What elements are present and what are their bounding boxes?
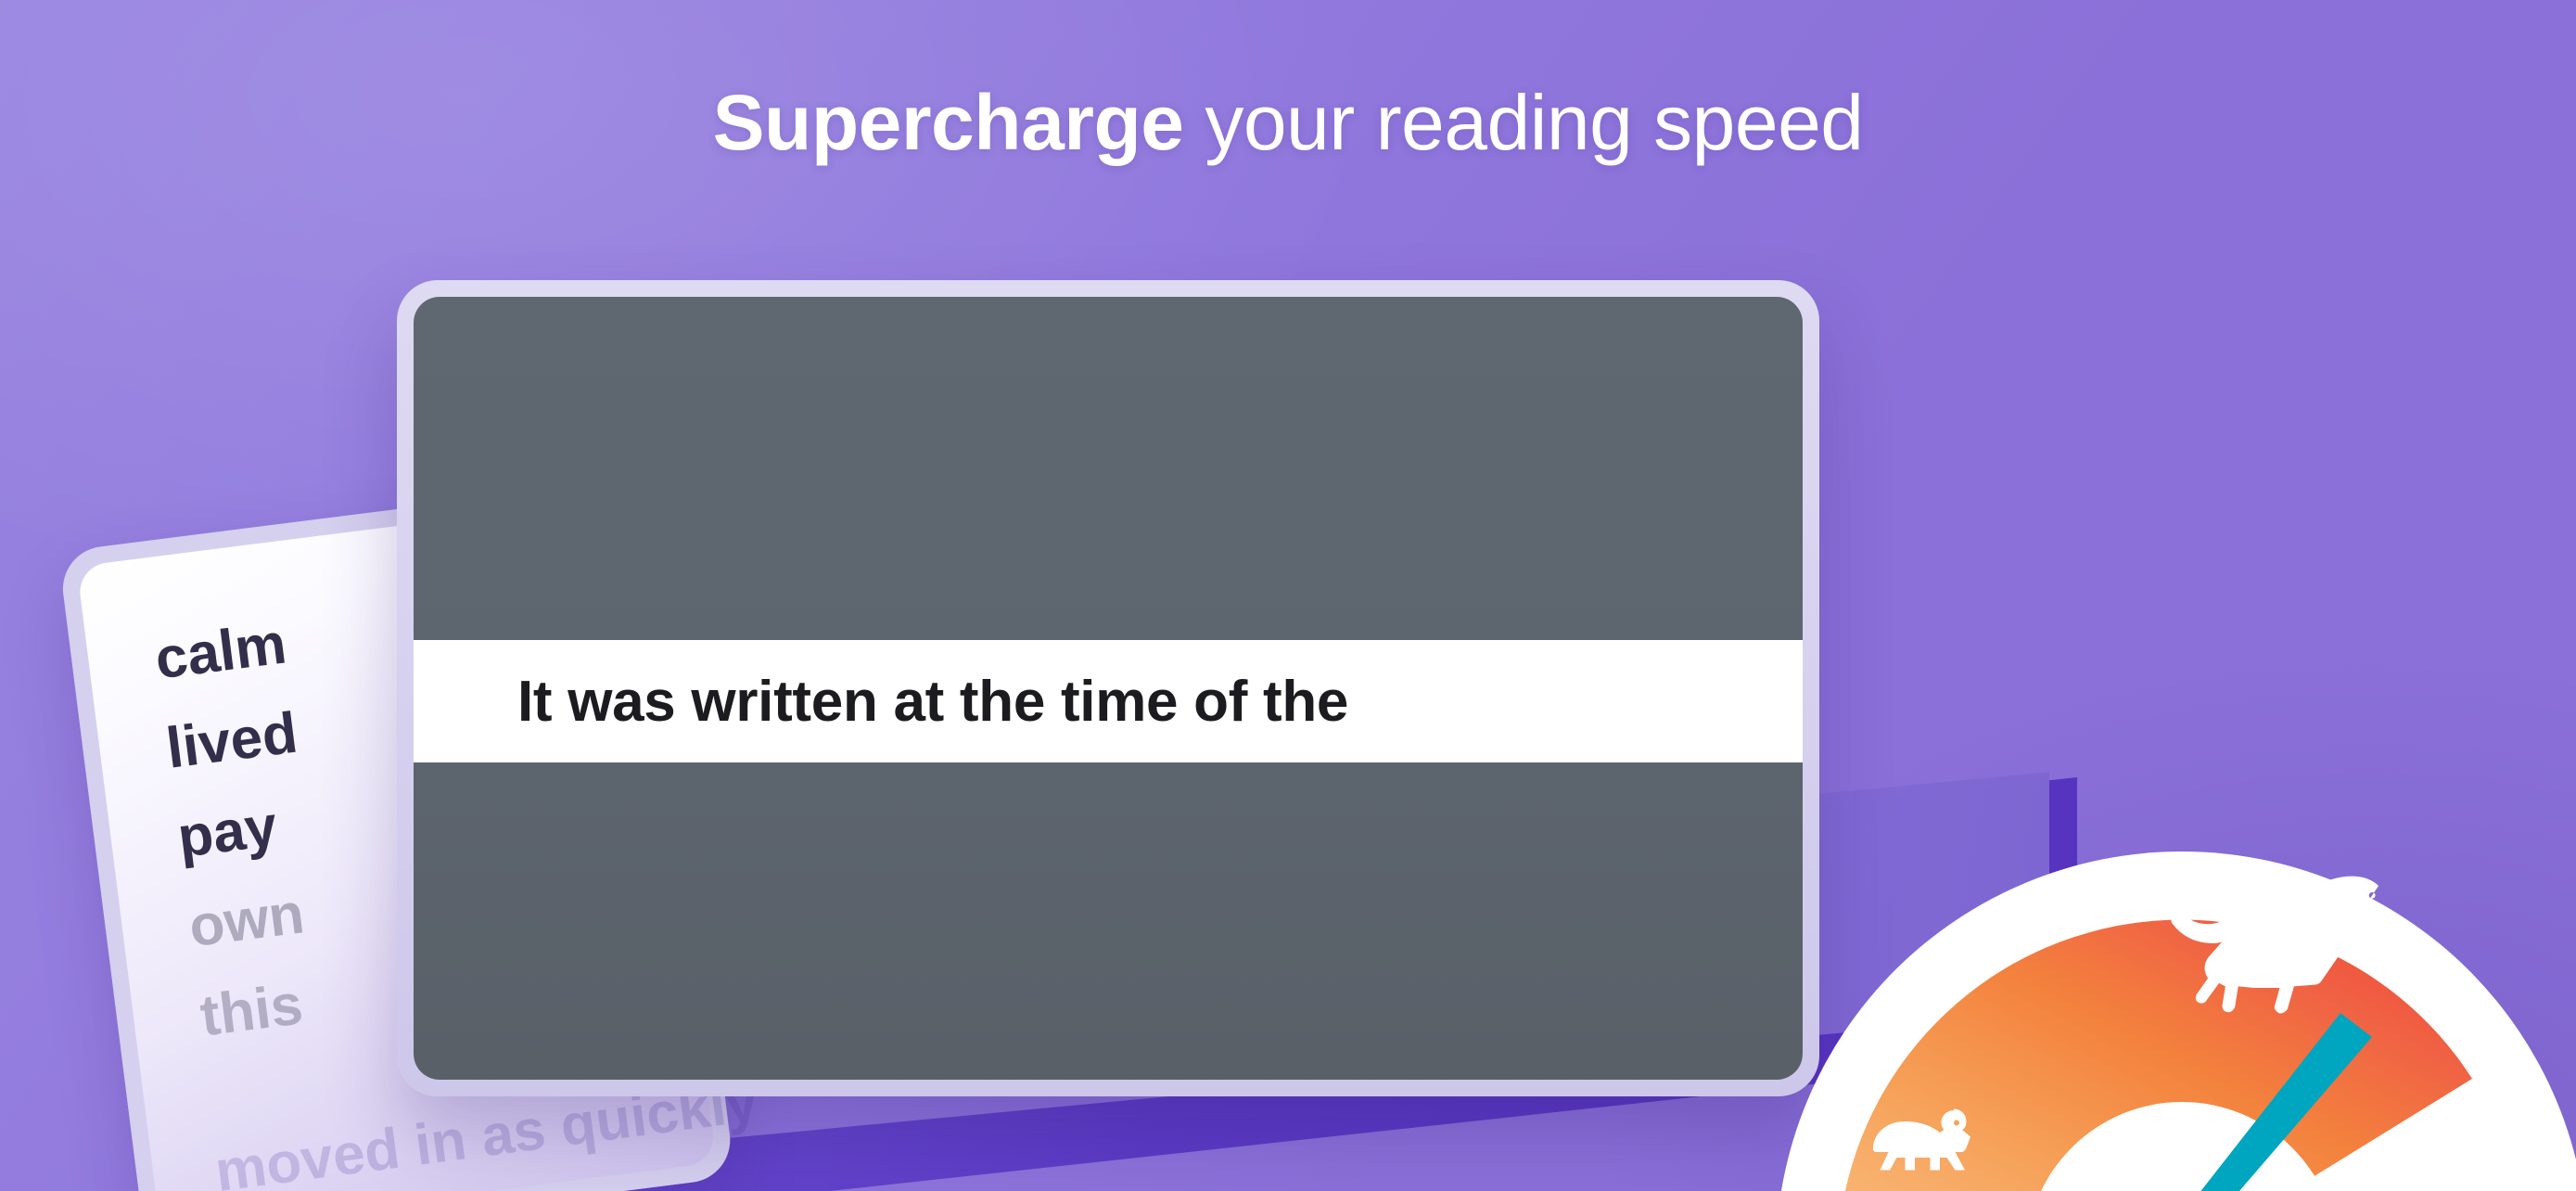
reader-highlight-bar[interactable]: It was written at the time of the: [414, 640, 1803, 762]
page-title: Supercharge your reading speed: [0, 82, 2576, 164]
reader-device-frame: It was written at the time of the: [397, 280, 1819, 1096]
promo-banner: Supercharge your reading speed calm live…: [0, 0, 2576, 1191]
speed-gauge: [1769, 683, 2576, 1191]
reader-current-line: It was written at the time of the: [517, 669, 1348, 735]
reader-screen: It was written at the time of the: [414, 297, 1803, 1080]
page-title-light: your reading speed: [1184, 79, 1864, 166]
page-title-strong: Supercharge: [712, 79, 1183, 166]
